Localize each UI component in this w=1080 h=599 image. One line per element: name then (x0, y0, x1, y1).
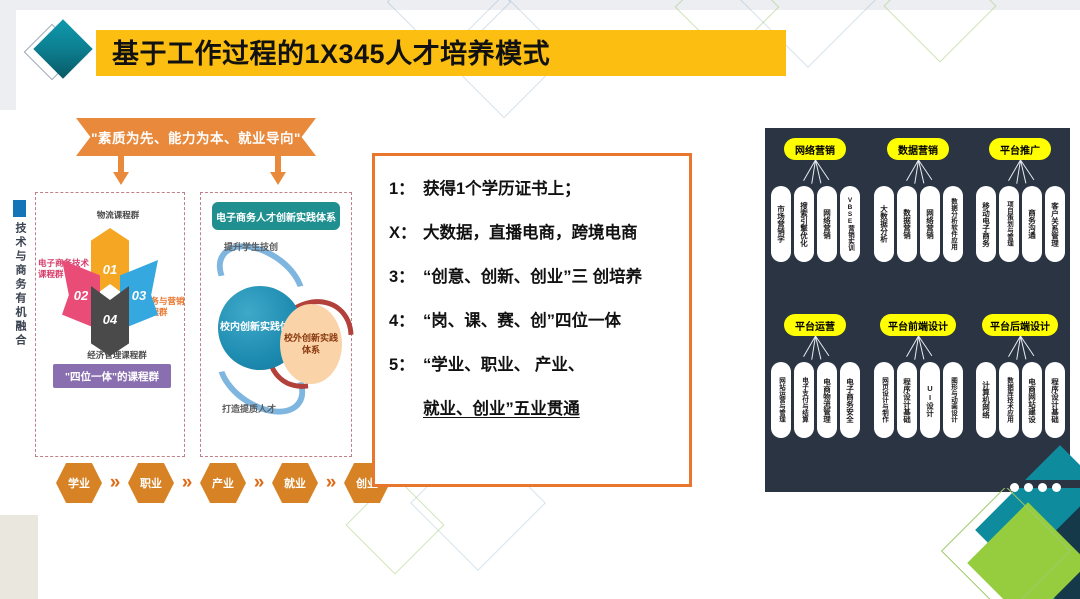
x-label-01: 物流课程群 (83, 210, 153, 221)
course-item-0-2[interactable]: 网络营销 (817, 186, 837, 262)
career-chain: 学业 » 职业 » 产业 » 就业 » 创业 (56, 463, 390, 503)
course-group-badge-5[interactable]: 平台后端设计 (982, 314, 1058, 336)
course-group-3: 平台运营网站运营与管理电子支付与结算电商物流管理电子商务安全 (767, 314, 863, 438)
definition-line-4: 5： “学业、职业、 产业、 (389, 354, 675, 376)
practice-system-header: 电子商务人才创新实践体系 (212, 202, 340, 230)
chain-sep-3: » (318, 472, 344, 494)
course-item-2-3[interactable]: 客户关系管理 (1045, 186, 1065, 262)
definition-key-4: 5： (389, 354, 423, 376)
course-item-2-0[interactable]: 移动电子商务 (976, 186, 996, 262)
definition-line-3: 4： “岗、课、赛、创”四位一体 (389, 310, 675, 332)
slide-canvas: 基于工作过程的1X345人才培养模式 "素质为先、能力为本、就业导向" 技术与商… (0, 0, 1080, 599)
x-arm-04-num: 04 (91, 312, 129, 327)
definition-key-1: X： (389, 222, 423, 244)
course-item-4-1[interactable]: 程序设计基础 (897, 362, 917, 438)
chain-item-0: 学业 (56, 463, 102, 503)
chain-item-3: 就业 (272, 463, 318, 503)
course-item-2-2[interactable]: 商务沟通 (1022, 186, 1042, 262)
practice-arc-bottom-text: 打造提质人才 (222, 402, 276, 415)
course-group-1: 数据营销大数据分析数据营销网络营销数据分析软件应用 (870, 138, 966, 262)
course-item-5-1[interactable]: 数据库技术应用 (999, 362, 1019, 438)
course-list-2: 移动电子商务项目策划与管理商务沟通客户关系管理 (972, 186, 1068, 262)
course-group-footer: "四位一体"的课程群 (53, 364, 171, 388)
definition-line-2: 3： “创意、创新、创业”三 创培养 (389, 266, 675, 288)
slide-left-edge-top (0, 0, 16, 110)
outer-practice-circle: 校外创新实践体系 (280, 304, 342, 384)
guiding-principle-banner: "素质为先、能力为本、就业导向" (76, 118, 316, 156)
course-group-badge-4[interactable]: 平台前端设计 (880, 314, 956, 336)
left-vertical-label: 技术与商务有机融合 (12, 222, 28, 348)
course-map-panel: 网络营销市场营销学搜索引擎优化网络营销VBSE营销实训 数据营销大数据分析数据营… (765, 128, 1070, 492)
page-title: 基于工作过程的1X345人才培养模式 (96, 30, 786, 76)
definition-value-4: “学业、职业、 产业、 (423, 354, 675, 376)
course-item-3-1[interactable]: 电子支付与结算 (794, 362, 814, 438)
course-item-5-2[interactable]: 电商网站建设 (1022, 362, 1042, 438)
course-list-4: 网页设计与制作程序设计基础UI设计图形与动画设计 (870, 362, 966, 438)
course-item-3-3[interactable]: 电子商务安全 (840, 362, 860, 438)
definition-key-0: 1： (389, 178, 423, 200)
page-title-text: 基于工作过程的1X345人才培养模式 (112, 32, 550, 71)
chain-item-2: 产业 (200, 463, 246, 503)
definition-line-1: X： 大数据，直播电商，跨境电商 (389, 222, 675, 244)
course-group-connector-2 (972, 160, 1068, 186)
course-item-1-0[interactable]: 大数据分析 (874, 186, 894, 262)
course-group-badge-3[interactable]: 平台运营 (784, 314, 846, 336)
definition-value-2: “创意、创新、创业”三 创培养 (423, 266, 675, 288)
course-group-connector-3 (767, 336, 863, 362)
course-group-connector-5 (972, 336, 1068, 362)
course-group-connector-1 (870, 160, 966, 186)
course-group-5: 平台后端设计计算机网络数据库技术应用电商网站建设程序设计基础 (972, 314, 1068, 438)
course-list-0: 市场营销学搜索引擎优化网络营销VBSE营销实训 (767, 186, 863, 262)
course-list-1: 大数据分析数据营销网络营销数据分析软件应用 (870, 186, 966, 262)
course-item-0-1[interactable]: 搜索引擎优化 (794, 186, 814, 262)
chain-sep-1: » (174, 472, 200, 494)
definition-line-5: 就业、创业”五业贯通 (389, 398, 675, 420)
definition-key-2: 3： (389, 266, 423, 288)
diamond-icon (30, 22, 92, 84)
x-shape-graphic: 01 02 03 04 (60, 228, 160, 358)
definition-value-3: “岗、课、赛、创”四位一体 (423, 310, 675, 332)
guiding-principle-text: "素质为先、能力为本、就业导向" (91, 127, 301, 147)
definition-value-1: 大数据，直播电商，跨境电商 (423, 222, 675, 244)
course-item-0-3[interactable]: VBSE营销实训 (840, 186, 860, 262)
definition-line-0: 1： 获得1个学历证书上； (389, 178, 675, 200)
course-group-badge-2[interactable]: 平台推广 (989, 138, 1051, 160)
course-item-5-3[interactable]: 程序设计基础 (1045, 362, 1065, 438)
course-group-4: 平台前端设计网页设计与制作程序设计基础UI设计图形与动画设计 (870, 314, 966, 438)
talent-model-diagram: "素质为先、能力为本、就业导向" 技术与商务有机融合 人文素质与专业素质并重 物… (8, 118, 353, 518)
practice-arc-top-text: 提升学生技创 (224, 240, 278, 253)
banner-arrow-left-icon (113, 156, 129, 186)
course-item-1-3[interactable]: 数据分析软件应用 (943, 186, 963, 262)
course-list-3: 网站运营与管理电子支付与结算电商物流管理电子商务安全 (767, 362, 863, 438)
course-list-5: 计算机网络数据库技术应用电商网站建设程序设计基础 (972, 362, 1068, 438)
course-group-badge-1[interactable]: 数据营销 (887, 138, 949, 160)
course-item-3-0[interactable]: 网站运营与管理 (771, 362, 791, 438)
course-item-3-2[interactable]: 电商物流管理 (817, 362, 837, 438)
course-group-badge-0[interactable]: 网络营销 (784, 138, 846, 160)
definition-value-5: 就业、创业”五业贯通 (423, 398, 675, 420)
definition-key-3: 4： (389, 310, 423, 332)
course-item-4-2[interactable]: UI设计 (920, 362, 940, 438)
course-item-5-0[interactable]: 计算机网络 (976, 362, 996, 438)
course-group-2: 平台推广移动电子商务项目策划与管理商务沟通客户关系管理 (972, 138, 1068, 262)
chain-sep-0: » (102, 472, 128, 494)
model-definition-box: 1： 获得1个学历证书上； X： 大数据，直播电商，跨境电商 3： “创意、创新… (372, 153, 692, 487)
course-group-connector-0 (767, 160, 863, 186)
course-item-0-0[interactable]: 市场营销学 (771, 186, 791, 262)
course-item-1-2[interactable]: 网络营销 (920, 186, 940, 262)
slide-header: 基于工作过程的1X345人才培养模式 (30, 22, 786, 84)
decor-dots (1010, 479, 1080, 489)
course-item-4-0[interactable]: 网页设计与制作 (874, 362, 894, 438)
watermark-diamond-5 (883, 0, 996, 63)
course-group-connector-4 (870, 336, 966, 362)
chain-sep-2: » (246, 472, 272, 494)
slide-left-edge-bottom (0, 515, 38, 599)
course-item-2-1[interactable]: 项目策划与管理 (999, 186, 1019, 262)
left-label-marker (13, 200, 26, 217)
course-item-1-1[interactable]: 数据营销 (897, 186, 917, 262)
x-arm-04: 04 (91, 286, 129, 356)
course-item-4-3[interactable]: 图形与动画设计 (943, 362, 963, 438)
banner-arrow-right-icon (270, 156, 286, 186)
course-group-0: 网络营销市场营销学搜索引擎优化网络营销VBSE营销实训 (767, 138, 863, 262)
definition-value-0: 获得1个学历证书上； (423, 178, 675, 200)
chain-item-1: 职业 (128, 463, 174, 503)
